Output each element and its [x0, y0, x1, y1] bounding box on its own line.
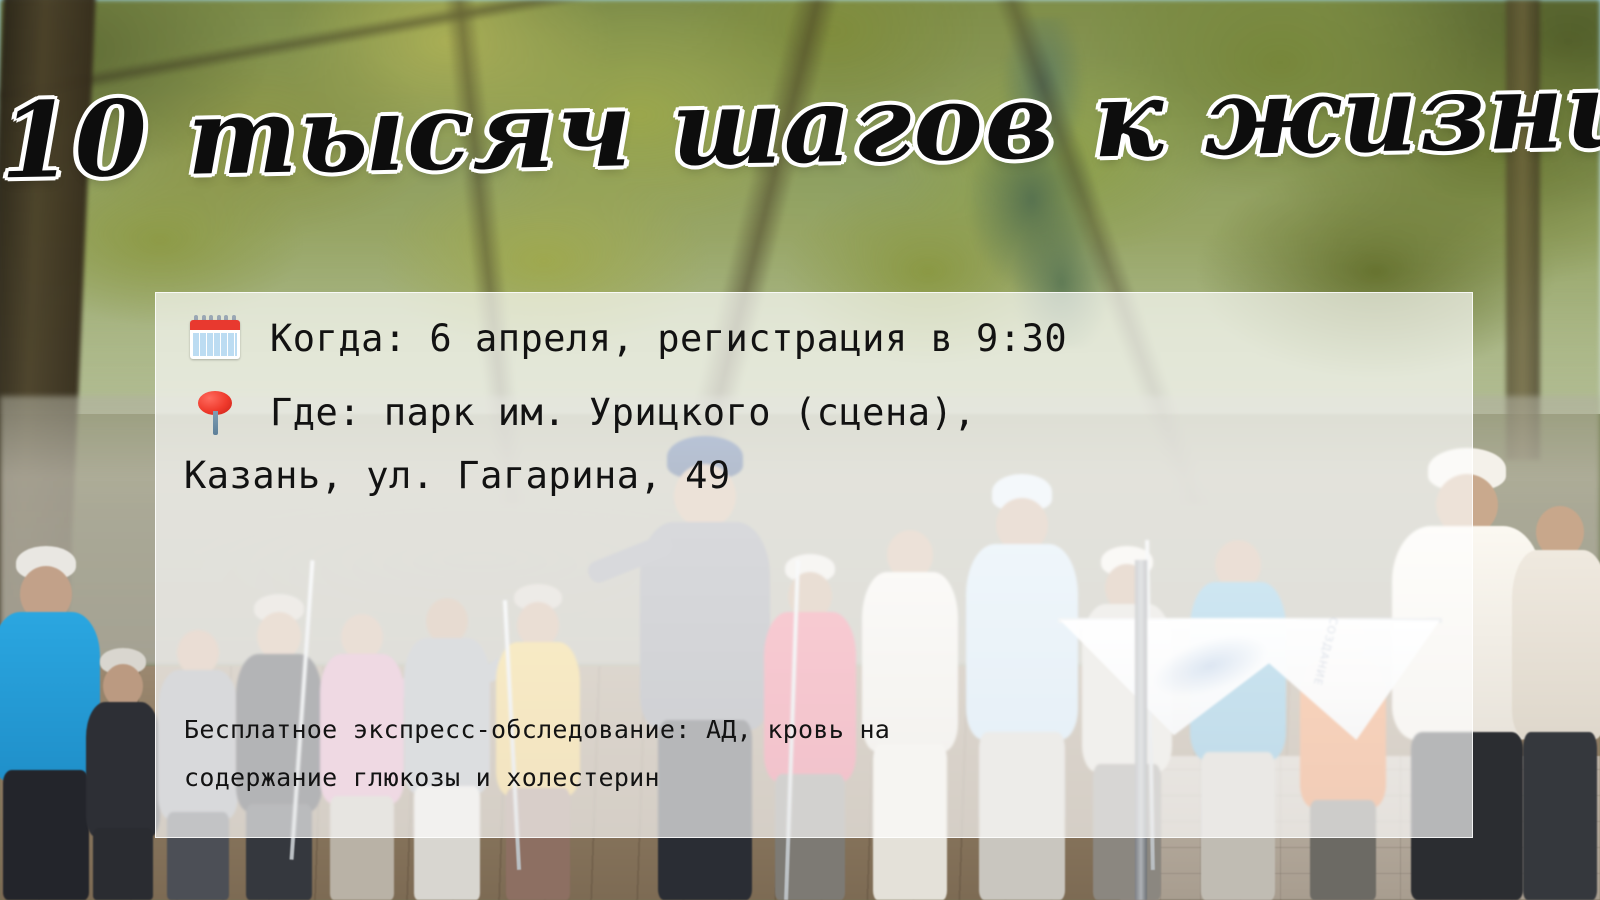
- info-when-text: Когда: 6 апреля, регистрация в 9:30: [270, 320, 1067, 357]
- person-blue-jacket: [0, 500, 100, 900]
- info-line-when: Когда: 6 апреля, регистрация в 9:30: [184, 315, 1452, 361]
- info-line-where: Где: парк им. Урицкого (сцена),: [184, 389, 1452, 435]
- note-line-1: Бесплатное экспресс-обследование: АД, кр…: [184, 706, 1448, 754]
- poster-title: 10 тысяч шагов к жизни: [0, 59, 1600, 194]
- person-dark-coat-1: [86, 570, 160, 900]
- info-where-text: Где: парк им. Урицкого (сцена),: [270, 394, 976, 431]
- panel-note: Бесплатное экспресс-обследование: АД, кр…: [184, 706, 1448, 801]
- event-poster: СОЗДАНИЕ 10 тысяч шагов к жизни Когда: 6…: [0, 0, 1600, 900]
- map-pin-icon: [184, 389, 270, 435]
- info-panel: Когда: 6 апреля, регистрация в 9:30 Где:…: [155, 292, 1473, 838]
- note-line-2: содержание глюкозы и холестерин: [184, 754, 1448, 802]
- info-line-address: Казань, ул. Гагарина, 49: [184, 457, 1452, 494]
- calendar-icon: [184, 315, 270, 361]
- person-far-right: [1512, 470, 1600, 900]
- info-address-text: Казань, ул. Гагарина, 49: [184, 457, 731, 494]
- panel-top-content: Когда: 6 апреля, регистрация в 9:30 Где:…: [184, 315, 1452, 494]
